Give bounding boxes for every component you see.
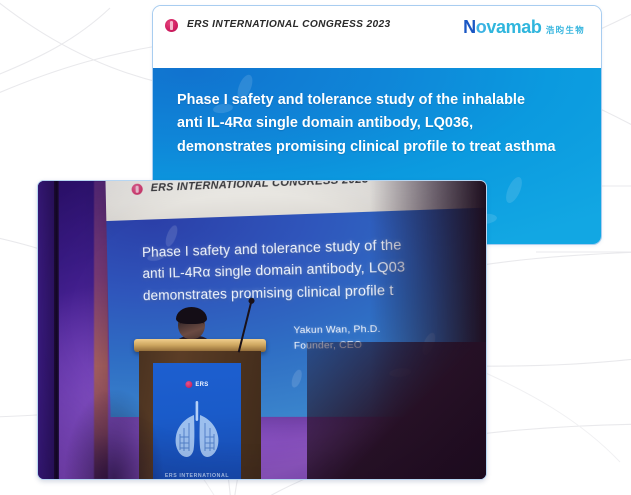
novamab-letter-n: N [463,17,476,37]
slide-title-line: demonstrates promising clinical profile … [177,136,577,159]
decor-blob [503,175,525,205]
congress-title: ERS INTERNATIONAL CONGRESS 2023 [187,19,391,30]
ers-logo-icon [185,381,192,388]
wall-seam [54,181,59,479]
slide-title-line: Phase I safety and tolerance study of th… [177,89,577,112]
screenshot-canvas: ERS INTERNATIONAL CONGRESS 2023 Novamab … [0,0,631,495]
ers-logo-icon [165,19,178,32]
decor-blob [290,368,304,388]
wall-panel-left [38,181,54,479]
conference-presentation-photo: ERS INTERNATIONAL CONGRESS 2023 Phase I … [37,180,487,480]
lungs-icon [169,401,225,459]
lectern-display: ERS ERS INTERNATIONAL [153,363,241,479]
novamab-letters-rest: vamab [486,17,541,37]
foreground-shadow [65,390,164,479]
projected-congress-title: ERS INTERNATIONAL CONGRESS 2023 [151,181,369,194]
novamab-letter-o: o [476,17,487,37]
glasses-icon [180,322,204,328]
novamab-wordmark: Novamab [463,17,541,37]
novamab-logo: Novamab 浩昀生物 [463,18,587,37]
ers-logo-icon [132,184,143,195]
ers-logo-lockup: ERS [185,381,208,388]
dark-room-corner [307,342,486,479]
slide-header: ERS INTERNATIONAL CONGRESS 2023 Novamab … [153,6,601,68]
ers-logo-text: ERS [195,382,208,388]
slide-title: Phase I safety and tolerance study of th… [153,68,601,159]
lectern-caption: ERS INTERNATIONAL [153,473,241,479]
slide-title-line: anti IL-4Rα single domain antibody, LQ03… [177,112,577,135]
novamab-chinese-name: 浩昀生物 [546,25,585,35]
